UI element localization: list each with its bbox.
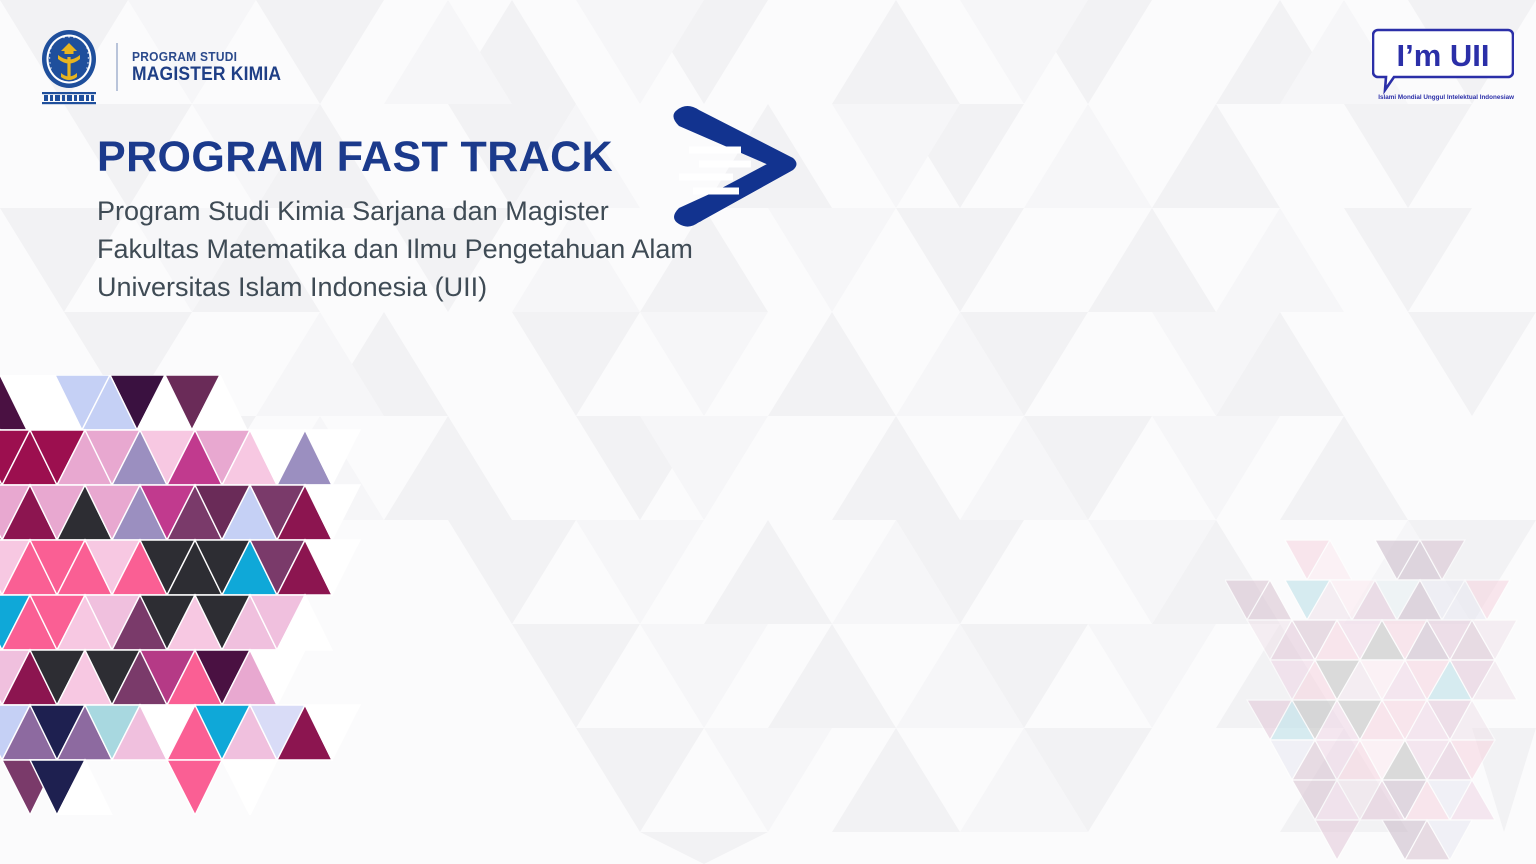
subtitle-line-3: Universitas Islam Indonesia (UII) — [97, 269, 693, 307]
subtitle-line-2: Fakultas Matematika dan Ilmu Pengetahuan… — [97, 231, 693, 269]
uii-crest-icon — [38, 28, 100, 106]
presentation-slide: PROGRAM STUDI MAGISTER KIMIA I’m UII Isl… — [0, 0, 1536, 864]
header-right-logo: I’m UII Islami Mondial Unggul Intelektua… — [1372, 26, 1514, 102]
header-left-logo: PROGRAM STUDI MAGISTER KIMIA — [38, 28, 294, 106]
triangle-mosaic-right — [1225, 520, 1536, 864]
triangle-mosaic-left — [0, 375, 450, 815]
subtitle-block: Program Studi Kimia Sarjana dan Magister… — [97, 193, 693, 306]
title-block: PROGRAM FAST TRACK Program Studi Kimia S… — [97, 136, 693, 306]
subtitle-line-1: Program Studi Kimia Sarjana dan Magister — [97, 193, 693, 231]
logo-divider — [116, 43, 118, 91]
program-studi-label: PROGRAM STUDI — [132, 50, 281, 63]
program-studi-name: MAGISTER KIMIA — [132, 65, 281, 84]
im-uii-wordmark: I’m UII — [1396, 38, 1489, 73]
page-title: PROGRAM FAST TRACK — [97, 136, 693, 179]
im-uii-tagline: Islami Mondial Unggul Intelektual Indone… — [1378, 94, 1514, 101]
program-studi-text: PROGRAM STUDI MAGISTER KIMIA — [132, 50, 294, 85]
im-uii-logo-icon: I’m UII Islami Mondial Unggul Intelektua… — [1372, 26, 1514, 102]
